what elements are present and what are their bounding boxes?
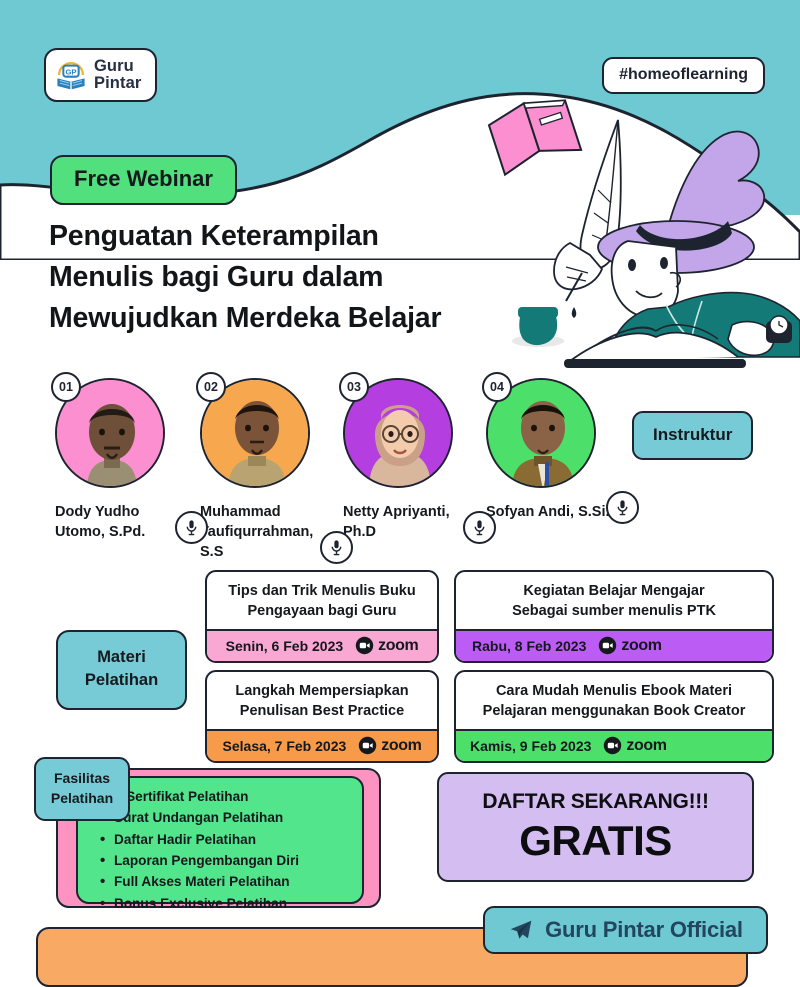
instructor-card-1: 01 Dody Yudho Utomo, S.Pd. [55, 378, 205, 542]
zoom-camera-icon [358, 736, 377, 755]
instructor-name: Dody Yudho Utomo, S.Pd. [55, 502, 183, 542]
cta-price: GRATIS [519, 817, 672, 865]
zoom-logo: zoom [603, 736, 666, 755]
microphone-icon [175, 511, 208, 544]
zoom-logo: zoom [598, 636, 661, 655]
instructor-number: 02 [196, 372, 226, 402]
session-title-line2: Pengayaan bagi Guru [215, 601, 429, 621]
brand-logo[interactable]: GP Guru Pintar [44, 48, 157, 102]
materi-label-line1: Materi [58, 646, 185, 669]
free-webinar-badge: Free Webinar [50, 155, 237, 205]
page-title: Penguatan Keterampilan Menulis bagi Guru… [49, 216, 569, 339]
session-title-line1: Kegiatan Belajar Mengajar [464, 581, 764, 601]
session-title-line1: Cara Mudah Menulis Ebook Materi [464, 681, 764, 701]
session-date: Senin, 6 Feb 2023 [226, 638, 344, 654]
title-line-2: Menulis bagi Guru dalam [49, 257, 569, 298]
list-item: Bonus Exclusive Pelatihan [100, 893, 352, 914]
telegram-channel-button[interactable]: Guru Pintar Official [483, 906, 768, 954]
session-date: Kamis, 9 Feb 2023 [470, 738, 591, 754]
instructor-list: 01 Dody Yudho Utomo, S.Pd. [55, 378, 675, 563]
telegram-paper-plane-icon [508, 917, 534, 943]
cta-headline: DAFTAR SEKARANG!!! [482, 790, 708, 814]
zoom-label: zoom [378, 637, 418, 655]
instructor-number: 04 [482, 372, 512, 402]
session-footer: Selasa, 7 Feb 2023 zoom [207, 729, 437, 761]
brand-logo-line2: Pintar [94, 75, 141, 92]
zoom-label: zoom [381, 737, 421, 755]
open-book-graduation-logo-icon: GP [54, 58, 88, 92]
brand-logo-text: Guru Pintar [94, 58, 141, 92]
session-title-line2: Pelajaran menggunakan Book Creator [464, 701, 764, 721]
session-title-line2: Sebagai sumber menulis PTK [464, 601, 764, 621]
instructor-number: 01 [51, 372, 81, 402]
session-date: Rabu, 8 Feb 2023 [472, 638, 586, 654]
fasilitas-label-line2: Pelatihan [36, 789, 128, 809]
register-cta-panel[interactable]: DAFTAR SEKARANG!!! GRATIS [437, 772, 754, 882]
session-title-line2: Penulisan Best Practice [215, 701, 429, 721]
session-footer: Rabu, 8 Feb 2023 zoom [456, 629, 772, 661]
session-title: Kegiatan Belajar Mengajar Sebagai sumber… [456, 572, 772, 629]
session-footer: Senin, 6 Feb 2023 zoom [207, 629, 437, 661]
session-card-4[interactable]: Cara Mudah Menulis Ebook Materi Pelajara… [454, 670, 774, 763]
list-item: Surat Undangan Pelatihan [100, 807, 352, 828]
title-line-1: Penguatan Keterampilan [49, 216, 569, 257]
poster-canvas: GP Guru Pintar #homeoflearning [0, 0, 800, 960]
materi-pelatihan-label: Materi Pelatihan [56, 630, 187, 710]
brand-logo-line1: Guru [94, 58, 141, 75]
zoom-label: zoom [626, 737, 666, 755]
list-item: e-Sertifikat Pelatihan [100, 786, 352, 807]
zoom-logo: zoom [355, 636, 418, 655]
materi-label-line2: Pelatihan [58, 669, 185, 692]
zoom-camera-icon [603, 736, 622, 755]
fasilitas-pelatihan-label: Fasilitas Pelatihan [34, 757, 130, 821]
session-title: Cara Mudah Menulis Ebook Materi Pelajara… [456, 672, 772, 729]
hashtag-badge: #homeoflearning [602, 57, 765, 94]
microphone-icon [606, 491, 639, 524]
zoom-camera-icon [598, 636, 617, 655]
zoom-label: zoom [621, 637, 661, 655]
session-footer: Kamis, 9 Feb 2023 zoom [456, 729, 772, 761]
instructor-name: Netty Apriyanti, Ph.D [343, 502, 471, 542]
instructor-card-3: 03 Netty Apriyanti, Ph.D [343, 378, 493, 542]
session-card-3[interactable]: Langkah Mempersiapkan Penulisan Best Pra… [205, 670, 439, 763]
session-card-2[interactable]: Kegiatan Belajar Mengajar Sebagai sumber… [454, 570, 774, 663]
session-title-line1: Langkah Mempersiapkan [215, 681, 429, 701]
instructor-name: Muhammad Taufiqurrahman, S.S [200, 502, 328, 562]
fasilitas-list: e-Sertifikat Pelatihan Surat Undangan Pe… [100, 786, 352, 914]
fasilitas-label-line1: Fasilitas [36, 769, 128, 789]
session-title: Tips dan Trik Menulis Buku Pengayaan bag… [207, 572, 437, 629]
session-title: Langkah Mempersiapkan Penulisan Best Pra… [207, 672, 437, 729]
title-line-3: Mewujudkan Merdeka Belajar [49, 298, 569, 339]
list-item: Daftar Hadir Pelatihan [100, 829, 352, 850]
svg-text:GP: GP [65, 67, 76, 76]
list-item: Full Akses Materi Pelatihan [100, 871, 352, 892]
telegram-label: Guru Pintar Official [545, 917, 743, 943]
zoom-camera-icon [355, 636, 374, 655]
zoom-logo: zoom [358, 736, 421, 755]
list-item: Laporan Pengembangan Diri [100, 850, 352, 871]
instructor-card-4: 04 Sofyan Andi, S.Si. [486, 378, 636, 522]
microphone-icon [320, 531, 353, 564]
microphone-icon [463, 511, 496, 544]
instructor-card-2: 02 Muhammad Taufiqurrahman, S.S [200, 378, 350, 562]
session-title-line1: Tips dan Trik Menulis Buku [215, 581, 429, 601]
instructor-number: 03 [339, 372, 369, 402]
session-card-1[interactable]: Tips dan Trik Menulis Buku Pengayaan bag… [205, 570, 439, 663]
instructor-name: Sofyan Andi, S.Si. [486, 502, 614, 522]
session-date: Selasa, 7 Feb 2023 [223, 738, 347, 754]
instruktur-label: Instruktur [632, 411, 753, 460]
